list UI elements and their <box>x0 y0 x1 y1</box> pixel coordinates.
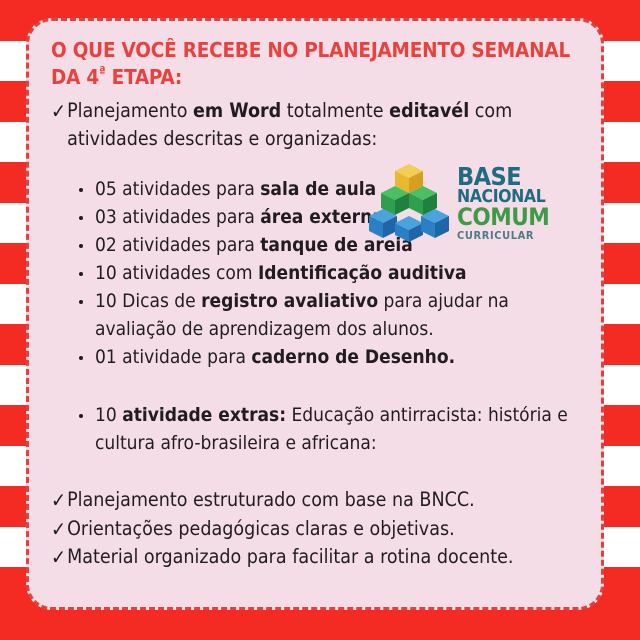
list-item-prefix: 03 atividades para <box>95 206 260 228</box>
list-item: 10 atividades com Identificação auditiva <box>79 260 579 288</box>
intro-part-c: totalmente <box>281 99 389 122</box>
list-item-prefix: 05 atividades para <box>95 178 260 200</box>
page-title: O QUE VOCÊ RECEBE NO PLANEJAMENTO SEMANA… <box>51 37 579 91</box>
bncc-line-base: BASE <box>457 165 549 189</box>
list-item-prefix: 02 atividades para <box>95 234 260 256</box>
summary-check-label: Orientações pedagógicas claras e objetiv… <box>67 515 579 544</box>
check-icon: ✓ <box>51 486 66 514</box>
summary-check-row: ✓ Planejamento estruturado com base na B… <box>51 486 579 515</box>
summary-check-list: ✓ Planejamento estruturado com base na B… <box>51 486 579 573</box>
list-item-bold: Identificação auditiva <box>258 262 467 284</box>
list-item-prefix: 10 Dicas de <box>95 290 201 312</box>
list-item: 10 Dicas de registro avaliativo para aju… <box>79 288 579 344</box>
bncc-line-comum: COMUM <box>457 206 549 229</box>
content-card: O QUE VOCÊ RECEBE NO PLANEJAMENTO SEMANA… <box>26 18 604 610</box>
check-icon: ✓ <box>51 543 66 571</box>
poster-canvas: O QUE VOCÊ RECEBE NO PLANEJAMENTO SEMANA… <box>0 0 640 640</box>
page-title-end: ETAPA: <box>105 65 182 89</box>
list-item-prefix: 10 atividades com <box>95 262 258 284</box>
intro-part-d: editavél <box>389 99 469 122</box>
intro-part-b: em Word <box>193 99 281 122</box>
check-icon: ✓ <box>51 515 66 543</box>
intro-check-line: ✓ Planejamento em Word totalmente editav… <box>51 97 579 152</box>
list-item-bold: atividade extras: <box>122 404 286 426</box>
list-item-bold: área externa <box>260 206 384 228</box>
list-item-bold: registro avaliativo <box>201 290 378 312</box>
deliverables-list-extra: 10 atividade extras: Educação antirracis… <box>51 402 579 458</box>
list-item-prefix: 10 <box>95 404 122 426</box>
list-item-prefix: 01 atividade para <box>95 346 251 368</box>
intro-text: Planejamento em Word totalmente editavél… <box>67 97 579 152</box>
bncc-logo: BASE NACIONAL COMUM CURRICULAR <box>367 162 567 244</box>
summary-check-label: Material organizado para facilitar a rot… <box>67 543 579 572</box>
list-item: 01 atividade para caderno de Desenho. <box>79 344 579 372</box>
summary-check-row: ✓ Material organizado para facilitar a r… <box>51 543 579 572</box>
bncc-cubes-icon <box>367 164 451 242</box>
list-item-bold: caderno de Desenho. <box>251 346 455 368</box>
summary-check-row: ✓ Orientações pedagógicas claras e objet… <box>51 515 579 544</box>
list-item: 10 atividade extras: Educação antirracis… <box>79 402 579 458</box>
summary-check-label: Planejamento estruturado com base na BNC… <box>67 486 579 515</box>
list-item-bold: sala de aula <box>260 178 376 200</box>
check-icon: ✓ <box>51 97 66 125</box>
intro-part-a: Planejamento <box>67 99 193 122</box>
bncc-logo-text: BASE NACIONAL COMUM CURRICULAR <box>457 165 549 241</box>
